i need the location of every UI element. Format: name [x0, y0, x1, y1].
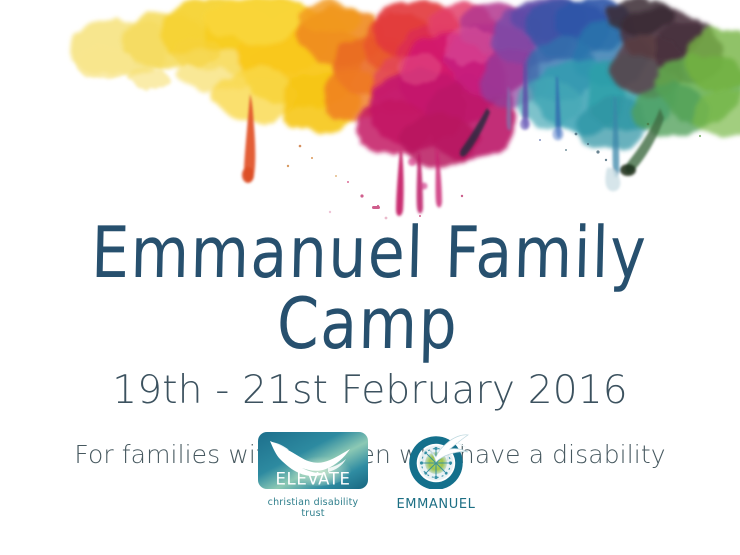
splash-svg — [0, 0, 740, 225]
elevate-tagline: christian disability trust — [258, 494, 368, 519]
watercolour-splash-artwork — [0, 0, 740, 225]
page-title: Emmanuel Family Camp — [0, 218, 740, 360]
elevate-badge: ELEVATE — [258, 432, 368, 489]
elevate-logo: ELEVATE christian disability trust — [258, 432, 368, 519]
emmanuel-wordmark: EMMANUEL — [390, 494, 482, 512]
emmanuel-emblem — [390, 432, 482, 489]
poster-canvas: Emmanuel Family Camp 19th - 21st Februar… — [0, 0, 740, 555]
elevate-wordmark: ELEVATE — [276, 470, 351, 489]
logo-strip: ELEVATE christian disability trust — [0, 432, 740, 519]
headline-block: Emmanuel Family Camp 19th - 21st Februar… — [0, 218, 740, 467]
emmanuel-logo: EMMANUEL — [390, 432, 482, 512]
